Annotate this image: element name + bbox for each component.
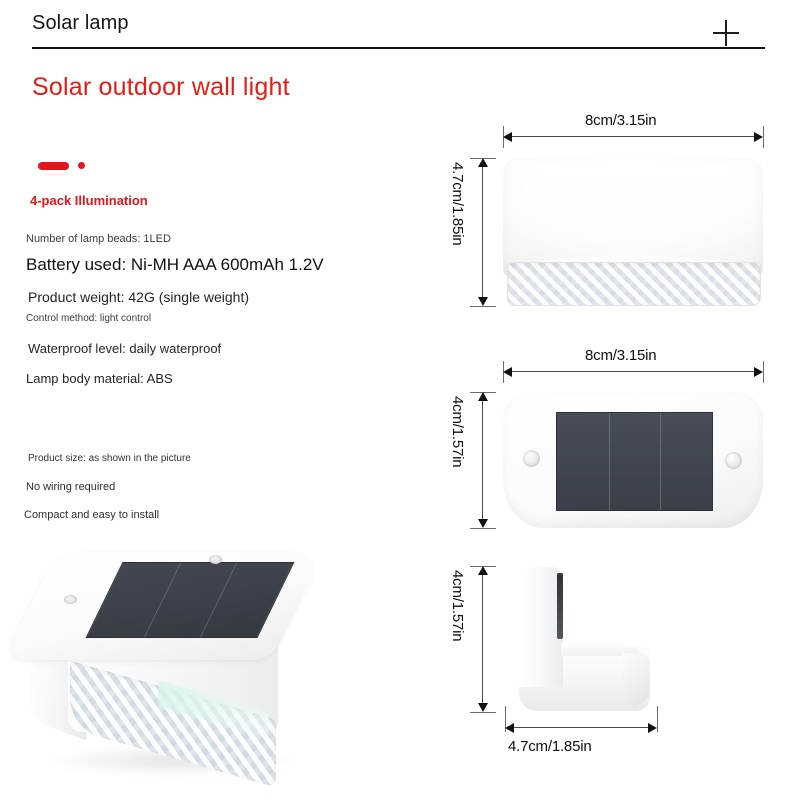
solar-panel: [556, 412, 713, 511]
front-height-line: [482, 161, 483, 303]
hero-panel-seam: [200, 563, 237, 637]
side-width-line: [508, 727, 654, 728]
side-width-arrow-left: [505, 723, 514, 733]
spec-control: Control method: light control: [26, 313, 151, 324]
badge-dot-icon: [78, 162, 85, 169]
front-width-line: [506, 136, 760, 137]
side-nose: [623, 653, 650, 705]
spec-battery: Battery used: Ni-MH AAA 600mAh 1.2V: [26, 255, 324, 275]
front-diffuser: [507, 262, 761, 306]
side-height-arrow-top: [478, 566, 488, 575]
front-height-tick-bottom: [470, 306, 496, 307]
front-height-arrow-bottom: [478, 297, 488, 306]
hero-panel-seam: [144, 563, 181, 637]
badge-marks: [38, 161, 88, 171]
solar-panel-seam: [660, 413, 661, 510]
note-no-wiring: No wiring required: [26, 481, 115, 493]
top-width-arrow-left: [503, 367, 512, 377]
side-shape: [519, 567, 650, 711]
front-width-arrow-right: [754, 132, 763, 142]
solar-panel-seam: [609, 413, 610, 510]
top-width-label: 8cm/3.15in: [585, 347, 656, 364]
spec-lamp-beads: Number of lamp beads: 1LED: [26, 233, 171, 245]
front-width-tick-right: [763, 126, 764, 148]
product-side-view: [519, 567, 650, 711]
front-height-label: 4.7cm/1.85in: [449, 162, 466, 245]
top-height-label: 4cm/1.57in: [449, 396, 466, 467]
top-width-line: [506, 371, 760, 372]
side-panel-seam: [557, 573, 563, 639]
spec-material: Lamp body material: ABS: [26, 371, 173, 386]
screw-hole-left: [523, 450, 540, 467]
header-divider: [32, 47, 765, 49]
side-height-arrow-bottom: [478, 703, 488, 712]
side-height-label: 4cm/1.57in: [449, 570, 466, 641]
front-height-arrow-top: [478, 158, 488, 167]
top-height-arrow-top: [478, 392, 488, 401]
hero-screw-hole-right: [209, 555, 222, 564]
top-height-arrow-bottom: [478, 519, 488, 528]
page-title: Solar lamp: [32, 12, 129, 35]
front-width-arrow-left: [503, 132, 512, 142]
note-easy-install: Compact and easy to install: [24, 509, 159, 521]
product-headline: Solar outdoor wall light: [32, 73, 290, 102]
side-width-tick-right: [657, 706, 658, 732]
side-height-tick-bottom: [470, 712, 496, 713]
hero-product-photo: [8, 548, 338, 792]
product-top-view: [503, 392, 763, 528]
side-width-label: 4.7cm/1.85in: [508, 738, 591, 755]
screw-hole-right: [725, 452, 742, 469]
spec-weight: Product weight: 42G (single weight): [28, 289, 249, 305]
pack-badge-label: 4-pack Illumination: [30, 193, 148, 208]
top-width-tick-right: [763, 361, 764, 383]
note-product-size: Product size: as shown in the picture: [28, 453, 191, 464]
front-width-label: 8cm/3.15in: [585, 112, 656, 129]
side-height-line: [482, 569, 483, 709]
top-width-arrow-right: [754, 367, 763, 377]
side-width-arrow-right: [648, 723, 657, 733]
badge-pill-icon: [38, 162, 69, 170]
plus-icon[interactable]: [713, 20, 739, 46]
top-height-tick-bottom: [470, 528, 496, 529]
hero-screw-hole-left: [64, 595, 77, 604]
top-height-line: [482, 395, 483, 525]
spec-waterproof: Waterproof level: daily waterproof: [28, 341, 221, 356]
product-front-view: [503, 158, 763, 306]
